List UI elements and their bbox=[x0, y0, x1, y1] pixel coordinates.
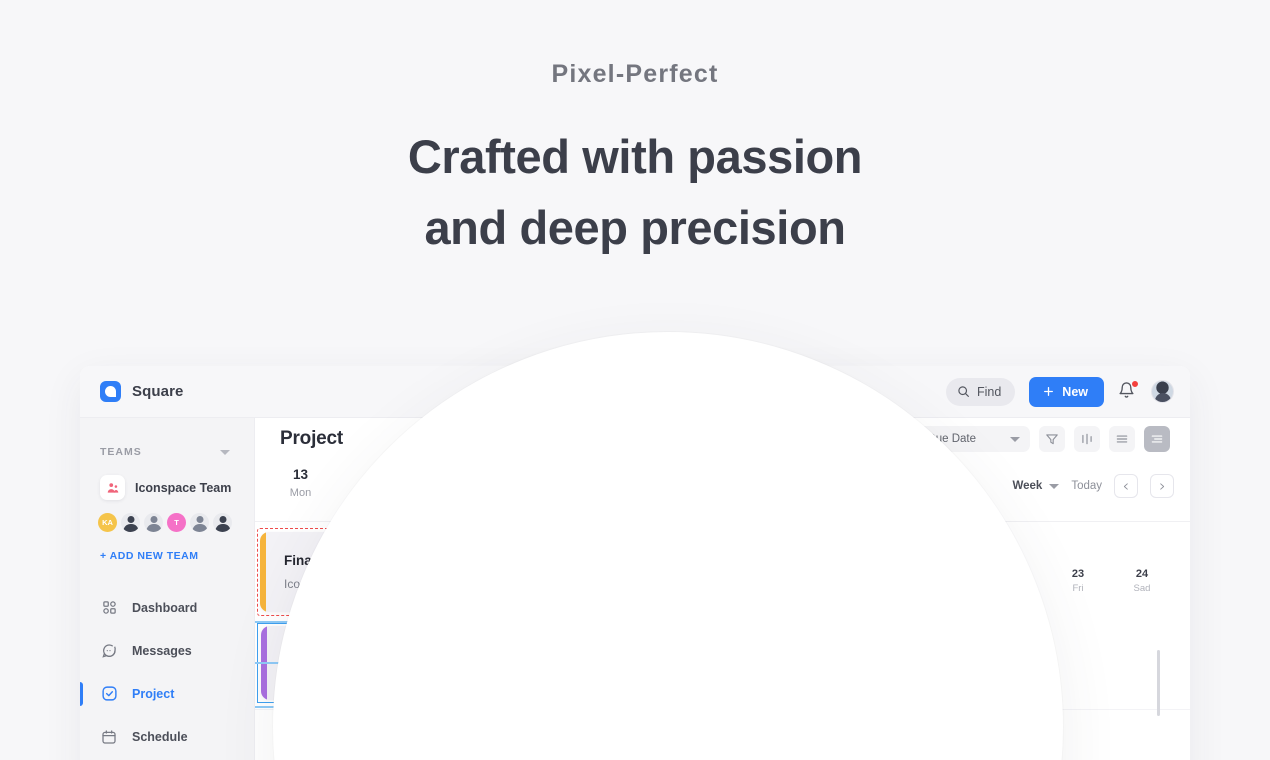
selection-guide-red bbox=[977, 528, 978, 704]
pane-title: Project bbox=[280, 428, 343, 450]
avatar-overflow[interactable]: +3 bbox=[922, 558, 950, 586]
date-dow: Wed bbox=[437, 487, 528, 499]
app-topbar: Square Find New bbox=[80, 366, 1190, 418]
date-strip: 13 Mon 14 Thu 15 Wed 16 Fri 17 bbox=[255, 460, 1190, 522]
sort-select-value: Due Date bbox=[927, 433, 976, 445]
project-board: Finance App Exploration Iconspace Team A… bbox=[255, 522, 1190, 760]
list-compact-icon bbox=[1150, 432, 1164, 446]
date-number: 20 bbox=[893, 467, 984, 482]
today-button[interactable]: Today bbox=[1071, 480, 1102, 492]
hero-title-line-1: Crafted with passion bbox=[0, 121, 1270, 192]
sidebar-item-label: Messages bbox=[132, 644, 192, 658]
sidebar-nav: Dashboard Messages bbox=[80, 562, 254, 758]
sidebar-item-messages[interactable]: Messages bbox=[80, 629, 254, 672]
prev-week-button[interactable] bbox=[1114, 474, 1138, 498]
date-cell-selected[interactable]: 15 Wed bbox=[437, 460, 528, 499]
date-number: 16 bbox=[528, 467, 619, 482]
date-cell[interactable]: 20 Tue bbox=[893, 460, 984, 499]
date-cell[interactable]: 13 Mon bbox=[255, 460, 346, 499]
compact-list-view-button[interactable] bbox=[1144, 426, 1170, 452]
plus-icon bbox=[1042, 385, 1055, 398]
sidebar-item-dashboard[interactable]: Dashboard bbox=[80, 586, 254, 629]
measure-guide-horizontal bbox=[255, 706, 505, 708]
sidebar: TEAMS Iconspace Team KA T bbox=[80, 418, 255, 760]
check-square-icon bbox=[100, 685, 118, 703]
hero-title-line-2: and deep precision bbox=[0, 192, 1270, 263]
avatar[interactable] bbox=[852, 558, 880, 586]
sidebar-team-item[interactable]: Iconspace Team bbox=[80, 458, 254, 500]
filter-button[interactable] bbox=[1039, 426, 1065, 452]
main-pane: Project Due Date bbox=[255, 418, 1190, 760]
search-icon bbox=[957, 385, 970, 398]
search-button-label: Find bbox=[977, 385, 1001, 399]
square-logo-icon bbox=[100, 381, 121, 402]
date-dow: Thu bbox=[346, 487, 437, 499]
pane-header: Project Due Date bbox=[255, 418, 1190, 460]
new-button[interactable]: New bbox=[1029, 377, 1104, 407]
avatar[interactable]: KA bbox=[98, 513, 117, 532]
team-badge-icon bbox=[100, 475, 125, 500]
avatar[interactable]: T bbox=[167, 513, 186, 532]
date-number: 18 bbox=[710, 467, 801, 482]
teams-header: TEAMS bbox=[80, 418, 254, 458]
page-root: Pixel-Perfect Crafted with passion and d… bbox=[0, 0, 1270, 760]
date-number: 19 bbox=[802, 467, 893, 482]
chevron-down-icon bbox=[1010, 437, 1020, 442]
chevron-down-icon bbox=[1049, 484, 1059, 489]
avatar[interactable]: AF bbox=[887, 558, 915, 586]
task-card[interactable]: Finance App Exploration Iconspace Team A… bbox=[260, 532, 972, 612]
sort-select[interactable]: Due Date bbox=[914, 426, 1030, 452]
range-select-value: Week bbox=[1012, 480, 1042, 492]
list-icon bbox=[1115, 432, 1129, 446]
avatar[interactable] bbox=[213, 513, 232, 532]
chat-bubble-icon bbox=[100, 642, 118, 660]
add-new-team-button[interactable]: + ADD NEW TEAM bbox=[80, 532, 254, 562]
topbar-actions: Find New bbox=[946, 377, 1190, 407]
avatar[interactable] bbox=[144, 513, 163, 532]
brand-name: Square bbox=[132, 383, 183, 400]
card-avatars: AF +3 bbox=[852, 558, 972, 586]
card-title: Finance App Exploration bbox=[284, 553, 852, 568]
date-dow: Sat bbox=[619, 487, 710, 499]
sidebar-team-name: Iconspace Team bbox=[135, 481, 231, 495]
measure-guide-horizontal bbox=[255, 662, 975, 664]
chevron-right-icon bbox=[1158, 481, 1166, 492]
calendar-icon bbox=[100, 728, 118, 746]
team-glyph-icon bbox=[106, 481, 120, 495]
hero-eyebrow: Pixel-Perfect bbox=[0, 60, 1270, 89]
date-cell[interactable]: 18 Sun bbox=[710, 460, 801, 499]
page-title: Crafted with passion and deep precision bbox=[0, 121, 1270, 264]
hero-section: Pixel-Perfect Crafted with passion and d… bbox=[0, 0, 1270, 264]
brand[interactable]: Square bbox=[80, 381, 183, 402]
new-button-label: New bbox=[1062, 385, 1088, 399]
sidebar-item-label: Schedule bbox=[132, 730, 188, 744]
grid-icon bbox=[100, 599, 118, 617]
card-body: Finance App Exploration Iconspace Team bbox=[266, 553, 852, 591]
measure-badge: 20 bbox=[422, 700, 448, 718]
columns-view-button[interactable] bbox=[1074, 426, 1100, 452]
date-number: 15 bbox=[437, 467, 528, 482]
grid-row-line bbox=[255, 709, 1190, 710]
card-subtitle: Iconspace Team bbox=[284, 577, 852, 591]
vertical-scrollbar[interactable] bbox=[1157, 650, 1160, 716]
week-controls: Week Today bbox=[1012, 460, 1190, 498]
avatar[interactable] bbox=[121, 513, 140, 532]
list-view-button[interactable] bbox=[1109, 426, 1135, 452]
date-cell[interactable]: 19 Mon bbox=[802, 460, 893, 499]
range-select[interactable]: Week bbox=[1012, 480, 1059, 492]
date-dow: Mon bbox=[802, 487, 893, 499]
date-number: 14 bbox=[346, 467, 437, 482]
measure-badge: 360 bbox=[765, 635, 797, 653]
date-cell[interactable]: 16 Fri bbox=[528, 460, 619, 499]
filter-icon bbox=[1045, 432, 1059, 446]
team-member-avatars: KA T bbox=[80, 500, 254, 532]
columns-icon bbox=[1080, 432, 1094, 446]
notifications-button[interactable] bbox=[1118, 381, 1137, 402]
next-week-button[interactable] bbox=[1150, 474, 1174, 498]
pane-toolbar: Due Date bbox=[914, 426, 1170, 452]
chevron-left-icon bbox=[1122, 481, 1130, 492]
sidebar-item-schedule[interactable]: Schedule bbox=[80, 715, 254, 758]
avatar[interactable] bbox=[190, 513, 209, 532]
date-dow: Mon bbox=[255, 487, 346, 499]
date-number: 17 bbox=[619, 467, 710, 482]
search-button[interactable]: Find bbox=[946, 378, 1015, 406]
avatar[interactable] bbox=[1151, 380, 1174, 403]
notification-dot bbox=[1131, 380, 1139, 388]
card-subtitle: Iconspace Team bbox=[285, 668, 524, 682]
measure-badge: 15 bbox=[422, 608, 448, 626]
teams-label: TEAMS bbox=[100, 446, 142, 458]
sidebar-item-label: Dashboard bbox=[132, 601, 197, 615]
sidebar-item-project[interactable]: Project bbox=[80, 672, 254, 715]
sidebar-item-label: Project bbox=[132, 687, 174, 701]
chevron-down-icon[interactable] bbox=[220, 450, 230, 455]
date-number: 13 bbox=[255, 467, 346, 482]
app-window: Square Find New bbox=[80, 366, 1190, 760]
card-title: Illustration bbox=[285, 644, 524, 659]
date-dow: Fri bbox=[528, 487, 619, 499]
date-dow: Sun bbox=[710, 487, 801, 499]
measure-guide-horizontal bbox=[255, 621, 505, 623]
date-cell[interactable]: 17 Sat bbox=[619, 460, 710, 499]
date-cell[interactable]: 14 Thu bbox=[346, 460, 437, 499]
date-dow: Tue bbox=[893, 487, 984, 499]
